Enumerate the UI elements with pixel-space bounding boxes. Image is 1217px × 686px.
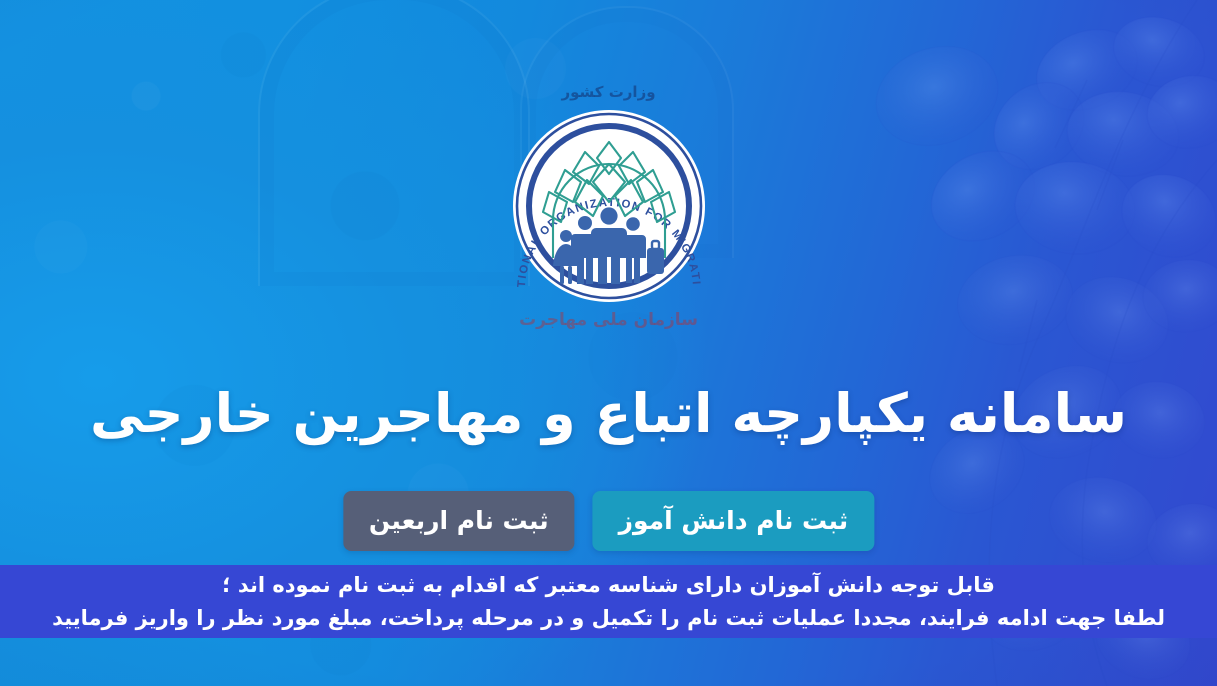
ministry-label: وزارت کشور — [0, 83, 1217, 101]
page-title: سامانه یکپارچه اتباع و مهاجرین خارجی — [49, 386, 1169, 443]
student-registration-button[interactable]: ثبت نام دانش آموز — [593, 491, 875, 551]
notice-line-2: لطفا جهت ادامه فرایند، مجددا عملیات ثبت … — [52, 603, 1165, 633]
action-buttons: ثبت نام دانش آموز ثبت نام اربعین — [343, 491, 874, 551]
organization-label: سازمان ملی مهاجرت — [0, 310, 1217, 330]
migration-seal-icon: NATIONAL ORGANIZATION FOR MIGRATION — [511, 108, 707, 304]
arbaeen-registration-button[interactable]: ثبت نام اربعین — [343, 491, 575, 551]
notice-line-1: قابل توجه دانش آموزان دارای شناسه معتبر … — [222, 570, 995, 600]
landing-page: وزارت کشور NATIONAL ORGANIZATION FOR MIG… — [0, 0, 1217, 686]
notice-banner: قابل توجه دانش آموزان دارای شناسه معتبر … — [0, 565, 1217, 638]
organization-seal: NATIONAL ORGANIZATION FOR MIGRATION — [511, 108, 707, 304]
